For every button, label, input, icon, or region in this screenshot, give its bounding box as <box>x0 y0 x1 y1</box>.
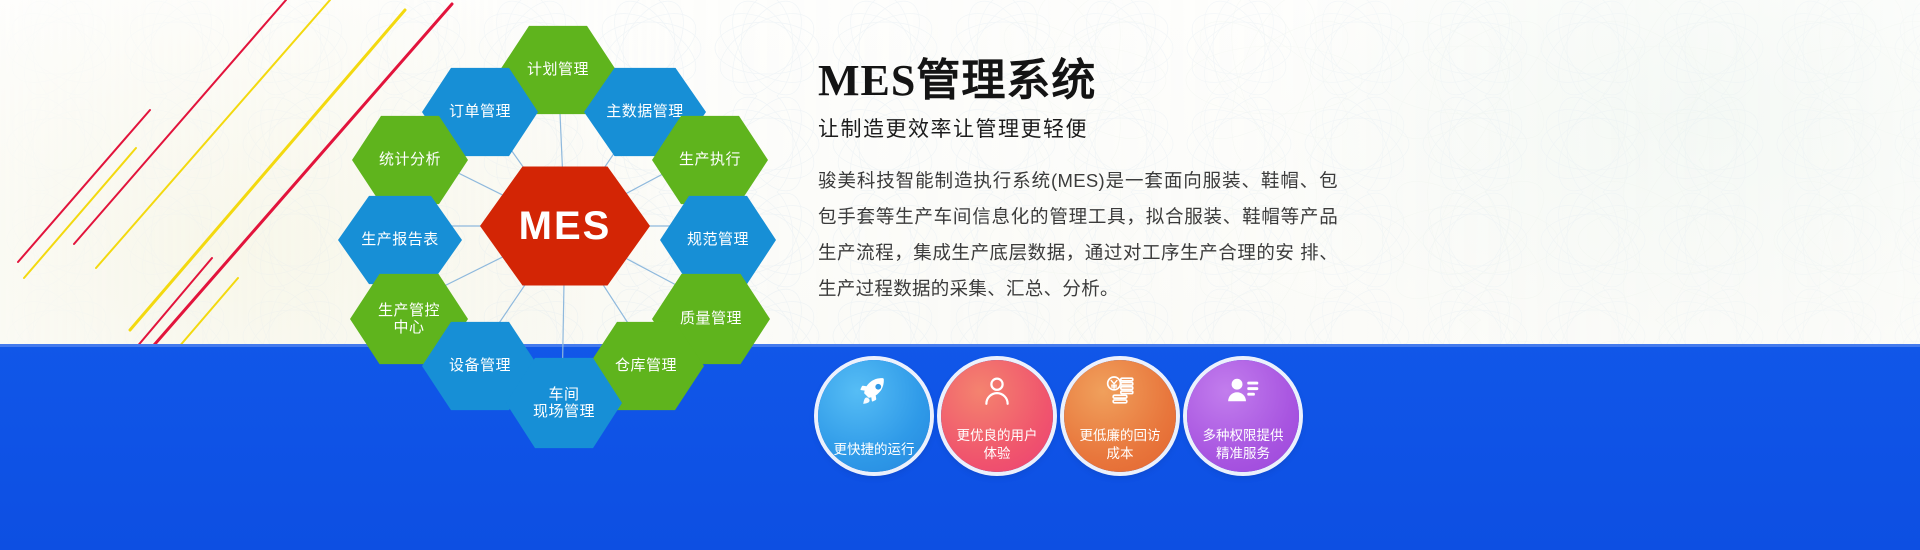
hex-label: 生产报告表 <box>361 231 439 248</box>
hex-label: 质量管理 <box>680 310 742 327</box>
mes-hexagon-diagram: MES 计划管理 订单管理 主数据管理 统计分析 生产执行 生产报告表 规范管理… <box>330 14 800 434</box>
mes-banner: MES 计划管理 订单管理 主数据管理 统计分析 生产执行 生产报告表 规范管理… <box>0 0 1920 550</box>
hex-label: 规范管理 <box>687 231 749 248</box>
hex-label: 订单管理 <box>449 103 511 120</box>
feature-badge-row: 更快捷的运行 更优良的用户 体验 <box>818 360 1299 472</box>
rocket-icon <box>857 374 891 408</box>
hex-label-line1: 车间 <box>548 386 579 403</box>
hex-label: 统计分析 <box>379 151 441 168</box>
coins-yen-icon <box>1103 374 1137 408</box>
hex-label-line2: 中心 <box>393 319 424 336</box>
headline-block: MES管理系统 让制造更效率让管理更轻便 骏美科技智能制造执行系统(MES)是一… <box>818 58 1338 307</box>
badge-better-user-experience[interactable]: 更优良的用户 体验 <box>941 360 1053 472</box>
hex-label-line1: 生产管控 <box>378 302 440 319</box>
hex-core-label: MES <box>519 203 612 249</box>
badge-label-line2: 精准服务 <box>1187 445 1299 463</box>
badge-lower-revisit-cost[interactable]: 更低廉的回访 成本 <box>1064 360 1176 472</box>
badge-label-line1: 更低廉的回访 <box>1064 427 1176 445</box>
badge-label-line2: 体验 <box>941 445 1053 463</box>
hex-label: 计划管理 <box>527 61 589 78</box>
hex-label: 设备管理 <box>449 357 511 374</box>
hex-label: 生产执行 <box>679 151 741 168</box>
badge-label-line1: 多种权限提供 <box>1187 427 1299 445</box>
page-subtitle: 让制造更效率让管理更轻便 <box>818 113 1338 143</box>
badge-faster-operation[interactable]: 更快捷的运行 <box>818 360 930 472</box>
description-paragraph: 骏美科技智能制造执行系统(MES)是一套面向服装、鞋帽、包包手套等生产车间信息化… <box>818 163 1338 307</box>
badge-multi-permission-service[interactable]: 多种权限提供 精准服务 <box>1187 360 1299 472</box>
page-title: MES管理系统 <box>818 58 1338 104</box>
user-icon <box>980 374 1014 408</box>
hex-label: 仓库管理 <box>615 357 677 374</box>
hex-label: 主数据管理 <box>606 103 684 120</box>
hex-label-line2: 现场管理 <box>533 403 595 420</box>
user-permissions-icon <box>1226 374 1260 408</box>
badge-label-line1: 更优良的用户 <box>941 427 1053 445</box>
badge-label-line2: 成本 <box>1064 445 1176 463</box>
badge-label-line1: 更快捷的运行 <box>818 441 930 459</box>
